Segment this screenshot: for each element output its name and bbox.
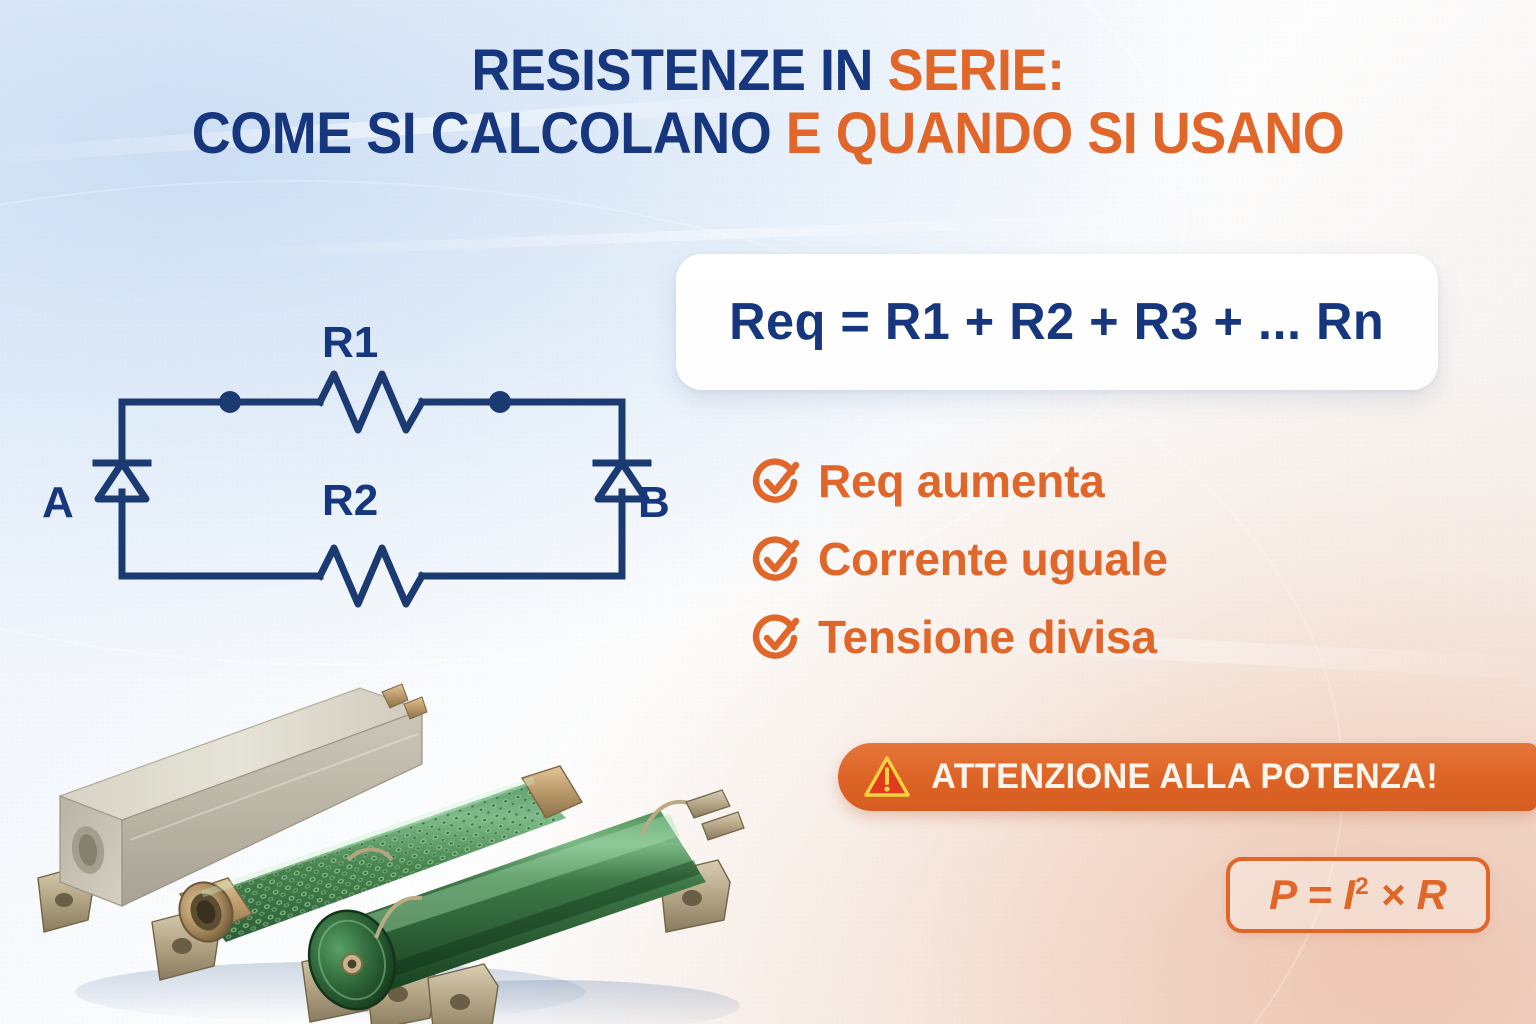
list-item-label: Tensione divisa — [818, 610, 1157, 664]
circuit-resistor-label-r1: R1 — [322, 318, 378, 368]
warning-banner-label: ATTENZIONE ALLA POTENZA! — [931, 757, 1438, 797]
check-circle-icon — [752, 613, 800, 661]
power-formula-prefix: P = I — [1269, 871, 1355, 918]
infographic-canvas: RESISTENZE IN SERIE: COME SI CALCOLANO E… — [0, 0, 1536, 1024]
list-item: Tensione divisa — [752, 598, 1168, 676]
bracket-hole-cyl-far — [682, 890, 702, 906]
benefits-list: Req aumenta Corrente uguale Tensione div… — [752, 442, 1168, 676]
title-line-2: COME SI CALCOLANO E QUANDO SI USANO — [54, 103, 1482, 166]
circuit-node-label-b: B — [638, 478, 670, 528]
circuit-resistor-label-r2: R2 — [322, 476, 378, 526]
bracket-hole-cyl-3 — [450, 994, 470, 1010]
formula-card: Req = R1 + R2 + R3 + ... Rn — [676, 254, 1438, 390]
bracket-hole-mesh-left — [172, 938, 192, 954]
list-item: Corrente uguale — [752, 520, 1168, 598]
power-formula-text: P = I2 × R — [1269, 871, 1447, 919]
list-item-label: Corrente uguale — [818, 532, 1168, 586]
bracket-hole-ceramic-left — [55, 893, 73, 907]
title-line-1-orange: SERIE: — [888, 38, 1065, 103]
power-formula-pill: P = I2 × R — [1226, 857, 1490, 933]
resistor-r2-zigzag — [320, 548, 422, 604]
warning-banner: ATTENZIONE ALLA POTENZA! — [838, 743, 1536, 811]
power-formula-exponent: 2 — [1355, 873, 1369, 900]
title-line-1-navy: RESISTENZE IN — [471, 38, 887, 103]
cylinder-far-tab-2 — [702, 812, 744, 840]
title-line-2-orange: E QUANDO SI USANO — [786, 101, 1345, 166]
list-item-label: Req aumenta — [818, 454, 1105, 508]
warning-triangle-icon — [864, 755, 910, 799]
check-circle-icon — [752, 535, 800, 583]
page-title: RESISTENZE IN SERIE: COME SI CALCOLANO E… — [54, 40, 1482, 165]
cylinder-center-hole — [348, 960, 357, 969]
check-circle-icon — [752, 457, 800, 505]
title-line-2-navy: COME SI CALCOLANO — [192, 101, 786, 166]
junction-dot-right — [489, 391, 511, 413]
resistor-r1-zigzag — [320, 374, 422, 430]
power-resistors-photo — [30, 670, 770, 1024]
title-line-1: RESISTENZE IN SERIE: — [54, 40, 1482, 103]
power-formula-suffix: × R — [1369, 871, 1447, 918]
cylinder-far-tab-1 — [686, 790, 730, 818]
list-item: Req aumenta — [752, 442, 1168, 520]
junction-dot-left — [219, 391, 241, 413]
circuit-node-label-a: A — [42, 478, 74, 528]
formula-text: Req = R1 + R2 + R3 + ... Rn — [729, 292, 1384, 352]
